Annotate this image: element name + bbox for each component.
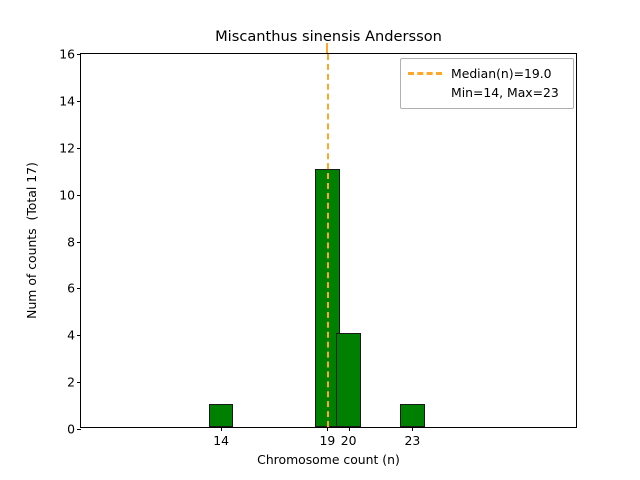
legend-entry: Median(n)=19.0 <box>408 64 566 83</box>
figure-canvas: Miscanthus sinensis Andersson 0246810121… <box>0 0 640 480</box>
x-tick-mark <box>349 427 350 431</box>
y-tick-label: 14 <box>59 93 75 108</box>
x-tick-label: 19 <box>319 433 335 448</box>
y-tick-label: 4 <box>67 328 75 343</box>
y-tick-mark <box>77 335 81 336</box>
y-tick-mark <box>77 101 81 102</box>
y-tick-label: 12 <box>59 140 75 155</box>
bar <box>336 333 360 427</box>
legend-label: Median(n)=19.0 <box>451 66 552 81</box>
plot-area: 024681012141614192023 <box>80 53 577 428</box>
y-tick-mark <box>77 288 81 289</box>
y-tick-mark <box>77 148 81 149</box>
x-tick-mark <box>412 427 413 431</box>
x-tick-mark <box>327 427 328 431</box>
chart-title: Miscanthus sinensis Andersson <box>80 28 577 45</box>
y-axis-label: Num of counts (Total 17) <box>24 53 46 428</box>
y-tick-label: 8 <box>67 234 75 249</box>
median-line-overshoot <box>326 43 328 53</box>
y-tick-mark <box>77 54 81 55</box>
bar <box>400 404 424 427</box>
y-tick-label: 16 <box>59 47 75 62</box>
legend: Median(n)=19.0Min=14, Max=23 <box>400 58 574 109</box>
y-tick-label: 0 <box>67 422 75 437</box>
bar <box>209 404 233 427</box>
x-tick-label: 23 <box>404 433 420 448</box>
x-axis-label: Chromosome count (n) <box>80 452 577 467</box>
y-tick-mark <box>77 195 81 196</box>
x-tick-label: 20 <box>341 433 357 448</box>
median-line <box>327 54 329 427</box>
y-tick-mark <box>77 242 81 243</box>
y-tick-mark <box>77 382 81 383</box>
y-tick-mark <box>77 429 81 430</box>
legend-entry: Min=14, Max=23 <box>408 83 566 102</box>
y-tick-label: 2 <box>67 375 75 390</box>
legend-line-swatch <box>408 72 442 75</box>
x-tick-mark <box>221 427 222 431</box>
legend-label: Min=14, Max=23 <box>451 85 559 100</box>
y-tick-label: 6 <box>67 281 75 296</box>
y-tick-label: 10 <box>59 187 75 202</box>
x-tick-label: 14 <box>213 433 229 448</box>
